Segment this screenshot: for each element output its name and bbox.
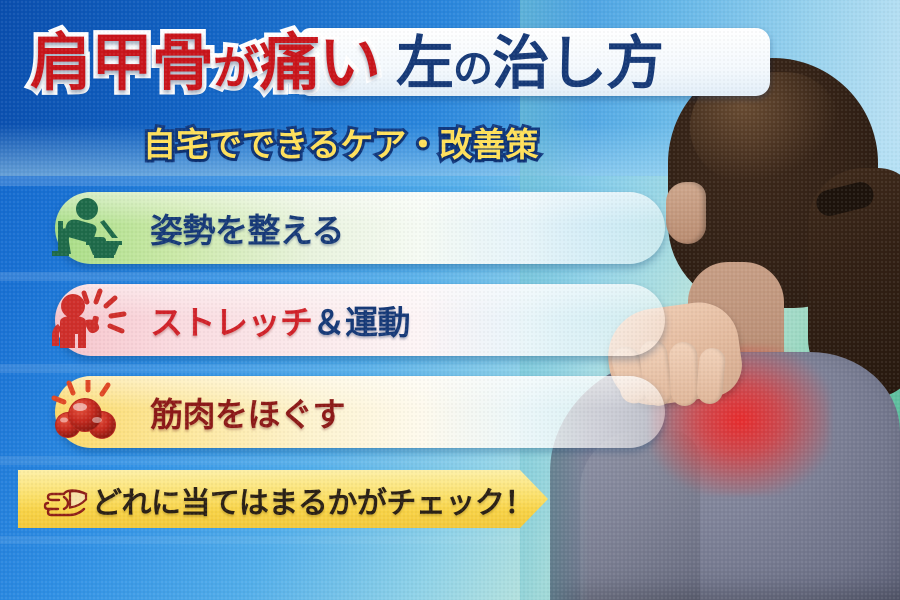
- title-block: 肩甲骨が痛い左の治し方: [0, 22, 760, 102]
- list-item-label-primary: ストレッチ: [150, 303, 313, 342]
- finger: [669, 342, 699, 407]
- title-red-particle: が: [213, 45, 258, 91]
- pill-sheen: [55, 376, 665, 409]
- page-title: 肩甲骨が痛い左の治し方: [30, 22, 760, 104]
- title-navy-particle: の: [453, 49, 492, 89]
- ear: [666, 182, 706, 244]
- infographic-canvas: 肩甲骨が痛い左の治し方 自宅でできるケア・改善策 姿勢を整える: [0, 0, 900, 600]
- title-red-main: 肩甲骨: [30, 32, 213, 94]
- list-item-label: 筋肉をほぐす: [150, 388, 345, 436]
- list-item[interactable]: [55, 192, 665, 264]
- callout-label: どれに当てはまるかがチェック！: [92, 478, 534, 522]
- list-item[interactable]: [55, 376, 665, 448]
- title-red-main2: 痛い: [258, 32, 380, 94]
- list-item-label: 姿勢を整える: [150, 204, 344, 252]
- person-at-desk-icon: [42, 196, 138, 260]
- stretching-person-icon: [42, 288, 138, 352]
- pointing-hand-icon: [42, 483, 88, 519]
- list-item-label: ストレッチ＆運動: [150, 296, 410, 344]
- massage-balls-icon: [42, 380, 138, 444]
- title-navy-main2: 治し方: [492, 34, 663, 92]
- page-subtitle: 自宅でできるケア・改善策: [143, 118, 538, 166]
- list-item-label-secondary: ＆運動: [313, 303, 411, 342]
- pill-sheen: [55, 192, 665, 225]
- title-navy-main: 左: [396, 34, 453, 92]
